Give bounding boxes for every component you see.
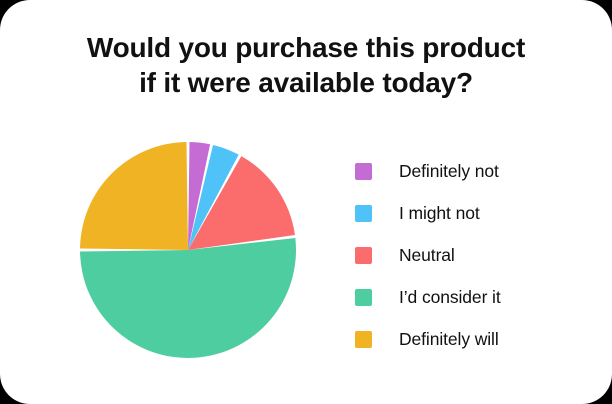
- legend-item-neutral[interactable]: Neutral: [355, 234, 585, 276]
- legend-label-i-might-not: I might not: [399, 203, 480, 224]
- pie-slice[interactable]: [80, 238, 296, 358]
- legend-swatch-definitely-not: [355, 163, 372, 180]
- legend-item-definitely-will[interactable]: Definitely will: [355, 318, 585, 360]
- legend-label-definitely-will: Definitely will: [399, 329, 499, 350]
- chart-title-line-2: if it were available today?: [36, 65, 576, 100]
- pie-slice-group: [80, 142, 296, 358]
- chart-card: Would you purchase this product if it we…: [0, 0, 612, 404]
- chart-title: Would you purchase this product if it we…: [0, 30, 612, 101]
- legend-swatch-i-might-not: [355, 205, 372, 222]
- legend-label-neutral: Neutral: [399, 245, 455, 266]
- legend-item-i-might-not[interactable]: I might not: [355, 192, 585, 234]
- pie-chart-plot-area: [70, 132, 310, 372]
- pie-chart-svg: [70, 132, 310, 372]
- chart-title-line-1: Would you purchase this product: [36, 30, 576, 65]
- legend-label-definitely-not: Definitely not: [399, 161, 499, 182]
- legend-item-id-consider-it[interactable]: I’d consider it: [355, 276, 585, 318]
- chart-legend: Definitely not I might not Neutral I’d c…: [355, 150, 585, 360]
- legend-swatch-id-consider-it: [355, 289, 372, 306]
- legend-swatch-definitely-will: [355, 331, 372, 348]
- legend-swatch-neutral: [355, 247, 372, 264]
- legend-label-id-consider-it: I’d consider it: [399, 287, 501, 308]
- legend-item-definitely-not[interactable]: Definitely not: [355, 150, 585, 192]
- pie-slice[interactable]: [80, 142, 188, 250]
